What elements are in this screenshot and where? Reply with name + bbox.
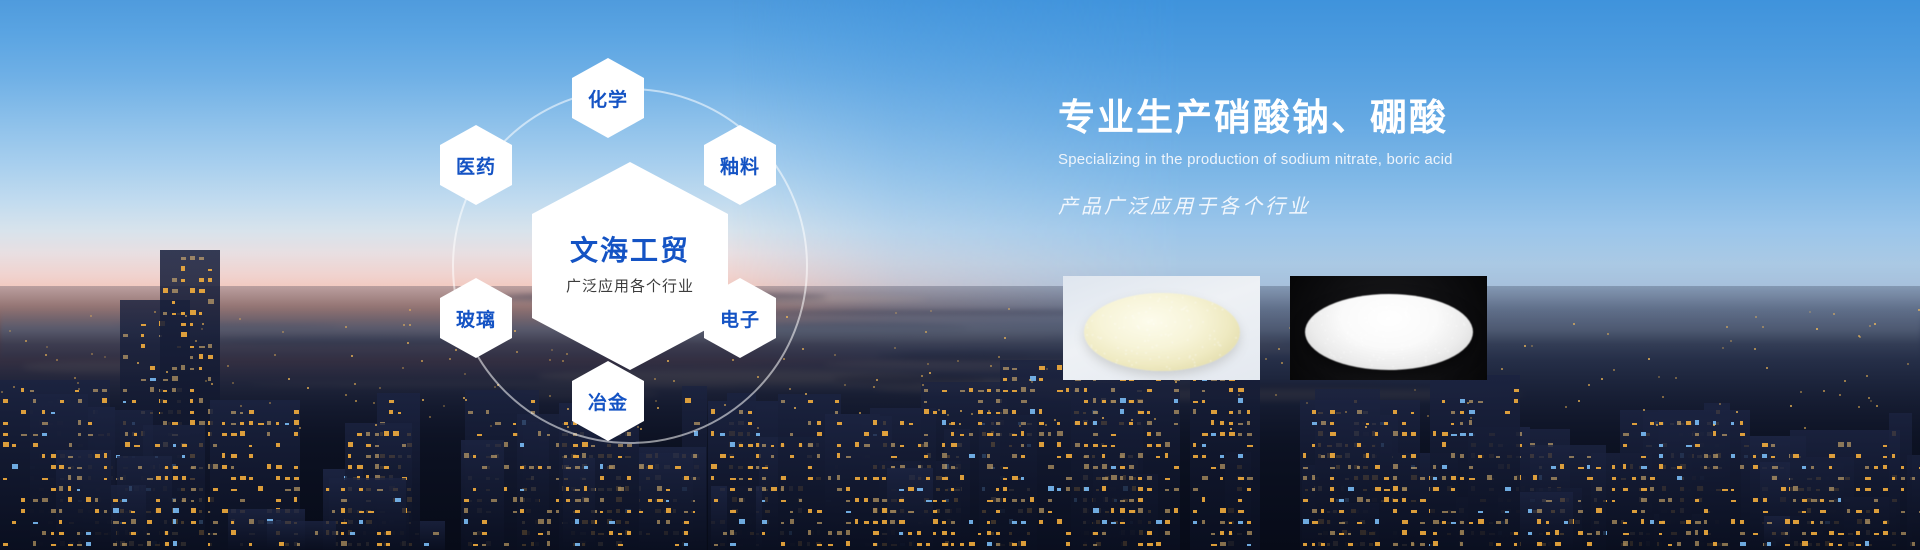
headline-subtitle-en: Specializing in the production of sodium… xyxy=(1058,151,1758,168)
headline-tagline: 产品广泛应用于各个行业 xyxy=(1058,190,1758,219)
promo-banner: 文海工贸 广泛应用各个行业 化学 釉料 电子 冶金 玻璃 医药 专业生产硝酸钠、… xyxy=(0,0,1920,550)
powder-grain-texture xyxy=(1084,293,1240,371)
powder-pile xyxy=(1084,293,1240,371)
company-tagline: 广泛应用各个行业 xyxy=(566,275,694,296)
background-cityscape xyxy=(0,0,1920,550)
hex-node-label: 化学 xyxy=(588,85,628,112)
hex-node-label: 玻璃 xyxy=(456,305,496,332)
hex-node-label: 医药 xyxy=(456,152,496,179)
hex-node-label: 冶金 xyxy=(588,388,628,415)
product-photo-group xyxy=(1063,276,1487,380)
hex-node-label: 釉料 xyxy=(720,152,760,179)
headline: 专业生产硝酸钠、硼酸 xyxy=(1058,96,1758,140)
product-photo-boric-acid[interactable] xyxy=(1290,276,1487,380)
city-buildings xyxy=(0,220,1920,550)
powder-pile xyxy=(1305,294,1473,370)
product-photo-sodium-nitrate[interactable] xyxy=(1063,276,1260,380)
headline-block: 专业生产硝酸钠、硼酸 Specializing in the productio… xyxy=(1058,96,1758,219)
industry-hex-diagram: 文海工贸 广泛应用各个行业 化学 釉料 电子 冶金 玻璃 医药 xyxy=(420,20,840,530)
company-name: 文海工贸 xyxy=(570,236,690,267)
powder-grain-texture xyxy=(1305,294,1473,370)
hex-node-label: 电子 xyxy=(720,305,760,332)
